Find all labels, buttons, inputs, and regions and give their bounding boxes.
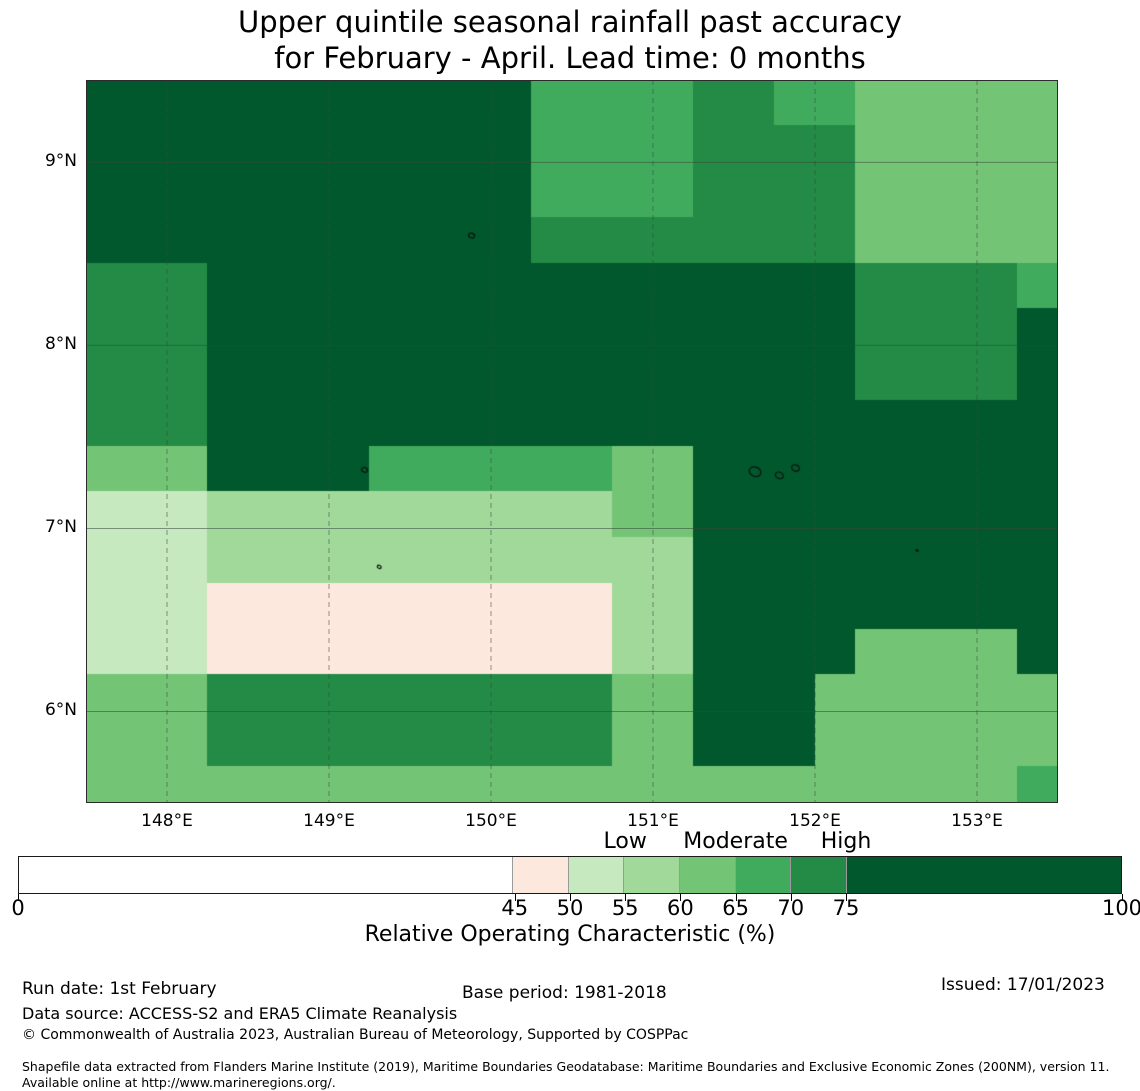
latitude-tick-label: 6°N bbox=[0, 700, 77, 720]
colorbar-category-label: High bbox=[746, 829, 946, 854]
colorbar-segment bbox=[569, 857, 625, 893]
colorbar-tick-label: 100 bbox=[1072, 896, 1140, 920]
colorbar-segment bbox=[19, 857, 513, 893]
run-date-text: Run date: 1st February bbox=[22, 979, 217, 999]
latitude-tick-label: 7°N bbox=[0, 517, 77, 537]
colorbar-axis-label: Relative Operating Characteristic (%) bbox=[0, 922, 1140, 947]
colorbar-segment bbox=[624, 857, 680, 893]
colorbar-segment bbox=[847, 857, 1121, 893]
longitude-tick-label: 152°E bbox=[755, 811, 875, 831]
colorbar-segment bbox=[513, 857, 569, 893]
longitude-tick-label: 153°E bbox=[917, 811, 1037, 831]
base-period-text: Base period: 1981-2018 bbox=[462, 983, 667, 1003]
footer: Run date: 1st February Base period: 1981… bbox=[0, 975, 1140, 1080]
colorbar-tick-label: 75 bbox=[796, 896, 896, 920]
map-plot-area bbox=[86, 80, 1058, 803]
latitude-tick-label: 8°N bbox=[0, 334, 77, 354]
colorbar-segment bbox=[736, 857, 792, 893]
colorbar-segment bbox=[791, 857, 847, 893]
colorbar-tick-label: 0 bbox=[0, 896, 68, 920]
colorbar-segment bbox=[680, 857, 736, 893]
longitude-tick-label: 149°E bbox=[269, 811, 389, 831]
longitude-tick-label: 150°E bbox=[431, 811, 551, 831]
copyright-text: © Commonwealth of Australia 2023, Austra… bbox=[22, 1027, 688, 1043]
longitude-tick-label: 151°E bbox=[593, 811, 713, 831]
colorbar bbox=[18, 856, 1122, 894]
issued-date-text: Issued: 17/01/2023 bbox=[941, 975, 1105, 995]
roc-heatmap-canvas bbox=[86, 80, 1058, 803]
longitude-tick-label: 148°E bbox=[107, 811, 227, 831]
page-title: Upper quintile seasonal rainfall past ac… bbox=[0, 4, 1140, 76]
shapefile-attribution-text: Shapefile data extracted from Flanders M… bbox=[22, 1059, 1122, 1091]
latitude-tick-label: 9°N bbox=[0, 151, 77, 171]
data-source-text: Data source: ACCESS-S2 and ERA5 Climate … bbox=[22, 1004, 457, 1023]
